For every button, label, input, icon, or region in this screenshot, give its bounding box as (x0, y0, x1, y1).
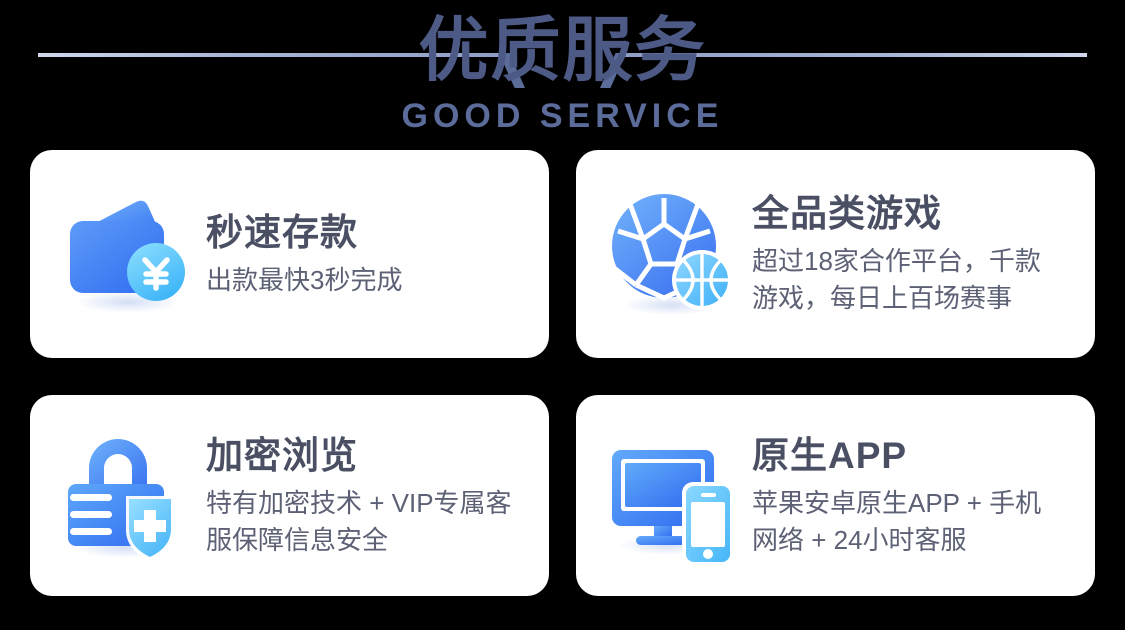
feature-card-grid: 秒速存款 出款最快3秒完成 (30, 150, 1095, 596)
wallet-icon (56, 184, 196, 324)
card-description-line: 网络 + 24小时客服 (752, 522, 1077, 559)
card-description: 特有加密技术 + VIP专属客 服保障信息安全 (206, 485, 531, 559)
card-title: 原生APP (752, 433, 1077, 479)
banner-header: 优质服务 GOOD SERVICE (0, 0, 1125, 145)
monitor-phone-icon (602, 426, 742, 566)
card-description-line: 游戏，每日上百场赛事 (752, 280, 1077, 317)
card-text-block: 原生APP 苹果安卓原生APP + 手机 网络 + 24小时客服 (742, 433, 1077, 559)
card-title: 加密浏览 (206, 433, 531, 479)
feature-card-native-app[interactable]: 原生APP 苹果安卓原生APP + 手机 网络 + 24小时客服 (576, 395, 1095, 596)
card-description: 苹果安卓原生APP + 手机 网络 + 24小时客服 (752, 485, 1077, 559)
page-subtitle: GOOD SERVICE (0, 97, 1125, 135)
feature-card-deposit[interactable]: 秒速存款 出款最快3秒完成 (30, 150, 549, 358)
card-description-line: 特有加密技术 + VIP专属客 (206, 485, 531, 522)
card-description-line: 超过18家合作平台，千款 (752, 243, 1077, 280)
feature-card-encryption[interactable]: 加密浏览 特有加密技术 + VIP专属客 服保障信息安全 (30, 395, 549, 596)
card-description-line: 苹果安卓原生APP + 手机 (752, 485, 1077, 522)
card-description: 出款最快3秒完成 (206, 262, 531, 299)
card-text-block: 全品类游戏 超过18家合作平台，千款 游戏，每日上百场赛事 (742, 191, 1077, 317)
good-service-banner: 优质服务 GOOD SERVICE (0, 0, 1125, 630)
page-title: 优质服务 (0, 8, 1125, 92)
card-description-line: 出款最快3秒完成 (206, 262, 531, 299)
card-title: 秒速存款 (206, 210, 531, 256)
card-description: 超过18家合作平台，千款 游戏，每日上百场赛事 (752, 243, 1077, 317)
feature-card-games[interactable]: 全品类游戏 超过18家合作平台，千款 游戏，每日上百场赛事 (576, 150, 1095, 358)
card-title: 全品类游戏 (752, 191, 1077, 237)
card-text-block: 秒速存款 出款最快3秒完成 (196, 210, 531, 299)
card-text-block: 加密浏览 特有加密技术 + VIP专属客 服保障信息安全 (196, 433, 531, 559)
card-description-line: 服保障信息安全 (206, 522, 531, 559)
soccer-ball-icon (602, 184, 742, 324)
lock-shield-icon (56, 426, 196, 566)
